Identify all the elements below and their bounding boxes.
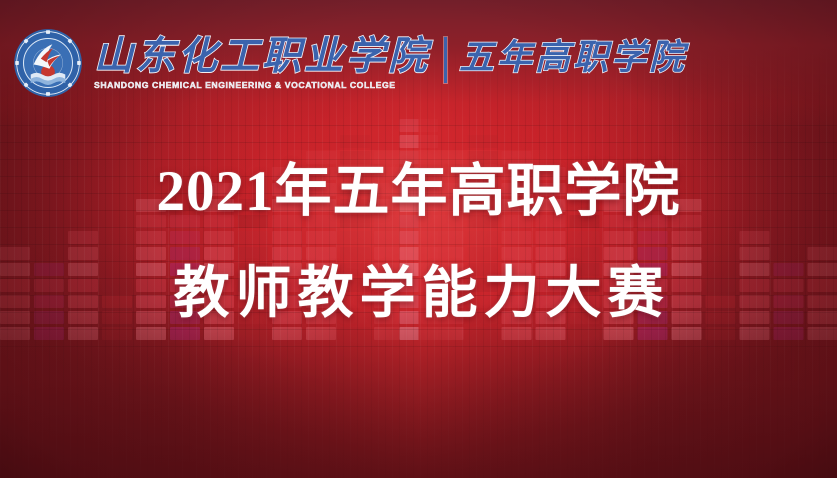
banner-header: 山东化工职业学院 SHANDONG CHEMICAL ENGINEERING &… [12, 24, 687, 102]
vertical-divider [444, 37, 447, 83]
competition-banner: 山东化工职业学院 SHANDONG CHEMICAL ENGINEERING &… [0, 0, 837, 478]
school-name-group: 山东化工职业学院 SHANDONG CHEMICAL ENGINEERING &… [94, 35, 430, 91]
banner-title-block: 2021年五年高职学院 教师教学能力大赛 [0, 160, 837, 326]
title-line-1: 2021年五年高职学院 [0, 160, 837, 224]
school-name-en: SHANDONG CHEMICAL ENGINEERING & VOCATION… [94, 80, 437, 91]
school-name-cn: 山东化工职业学院 [94, 35, 430, 79]
school-seal-icon [12, 27, 84, 99]
school-identity: 山东化工职业学院 SHANDONG CHEMICAL ENGINEERING &… [94, 35, 687, 91]
department-name-cn: 五年高职学院 [459, 35, 687, 81]
title-line-2: 教师教学能力大赛 [0, 262, 837, 326]
